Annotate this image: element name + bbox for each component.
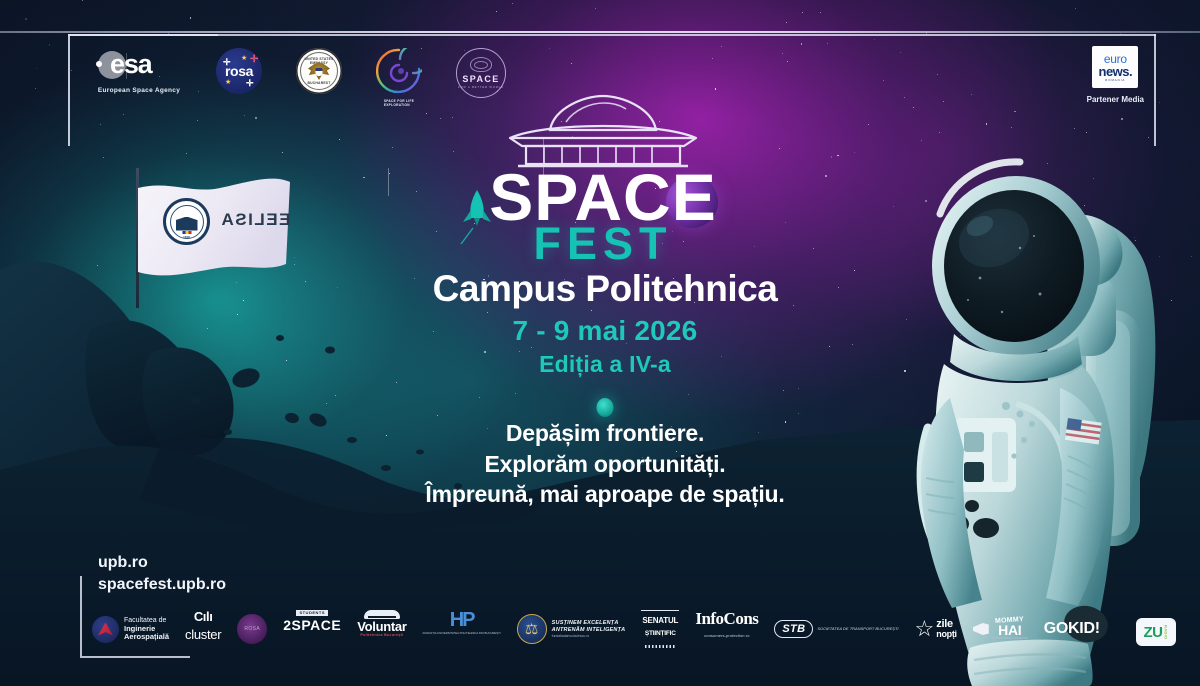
embassy-seal-icon: UNITED STATES EMBASSY BUCHAREST — [296, 48, 342, 94]
aerospace-faculty-icon — [92, 616, 119, 643]
page-title: Campus Politehnica — [390, 268, 820, 309]
sponsor-facultatea-inginerie-aerospatiala[interactable]: Facultatea de Inginerie Aerospațială — [92, 610, 169, 648]
megaphone-icon — [973, 623, 989, 635]
mommy-line2: HAI — [998, 624, 1021, 637]
sponsor-zu-radio[interactable]: ZU RADIO — [1136, 618, 1176, 646]
rosa-circle-label: ROSA — [244, 626, 260, 632]
infocons-line1: InfoCons — [695, 610, 758, 629]
voluntar-line1: Voluntar — [357, 620, 406, 633]
hp-line1: HP — [450, 610, 474, 630]
seal-text-bottom: BUCHAREST — [301, 81, 337, 85]
ufo-building-icon — [488, 92, 718, 170]
flag-cloth — [108, 168, 308, 308]
rosa-circle-icon: ROSA — [237, 614, 267, 644]
logo-word-space: SPACE — [489, 166, 717, 229]
us-embassy-seal[interactable]: UNITED STATES EMBASSY BUCHAREST — [296, 48, 342, 94]
url-main[interactable]: upb.ro — [98, 552, 226, 574]
senat-columns-icon — [645, 645, 675, 648]
esa-caption: European Space Agency — [98, 87, 180, 94]
mommy-line3: COMUNITATEA MAMELOR — [992, 638, 1028, 640]
euronews-line1: euro — [1104, 53, 1127, 65]
event-edition: Ediția a IV-a — [390, 351, 820, 378]
sponsor-gokid[interactable]: GOKID! — [1044, 610, 1100, 648]
sponsor-zile-si-nopti[interactable]: ☆ zile nopți — [915, 610, 957, 648]
esa-icon: esa — [96, 48, 182, 82]
sponsor-voluntar[interactable]: Voluntar Politehnica București — [357, 610, 406, 648]
star-icon: ☆ — [915, 618, 935, 640]
infocons-line2: consumers-protection.ro — [704, 634, 749, 638]
cili-line1: Cılı — [194, 610, 213, 623]
hp-line2: FUNDAȚIA UNIVERSITATEA POLITEHNICA DIN B… — [423, 632, 501, 636]
sponsor-infocons[interactable]: InfoCons consumers-protection.ro — [695, 610, 758, 648]
sponsor-cili-cluster[interactable]: Cılı cluster — [185, 610, 221, 648]
sponsor-rosa-circle[interactable]: ROSA — [237, 610, 267, 648]
tagline-line-1: Depășim frontiere. — [370, 418, 840, 449]
top-partner-logos: esa European Space Agency ★ ★ ✛ ✛ ✛ rosa… — [96, 48, 506, 108]
tagline-line-2: Explorăm oportunități. — [370, 449, 840, 480]
euronews-line2: news. — [1099, 65, 1133, 78]
spacefest-poster: esa European Space Agency ★ ★ ✛ ✛ ✛ rosa… — [0, 0, 1200, 686]
spiral-caption: SPACE FOR LIFE EXPLORATION — [384, 99, 414, 108]
url-event[interactable]: spacefest.upb.ro — [98, 574, 226, 596]
spacefest-wordmark: SPACE — [489, 166, 717, 229]
space-circle-word: SPACE — [462, 74, 499, 84]
senat-line2: ȘTIINȚIFIC — [645, 631, 676, 638]
zile-line2: nopți — [936, 630, 957, 639]
spiral-logo[interactable]: SPACE FOR LIFE EXPLORATION — [376, 48, 422, 108]
esa-logo[interactable]: esa European Space Agency — [96, 48, 182, 94]
website-urls: upb.ro spacefest.upb.ro — [98, 552, 226, 595]
zu-sub: RADIO — [1164, 625, 1169, 639]
voluntar-icon — [364, 610, 400, 619]
top-divider-line — [0, 31, 1200, 33]
fdv-line3: fundatiadanvoiculescu.ro — [552, 634, 626, 638]
rosa-icon: ★ ★ ✛ ✛ ✛ rosa — [216, 48, 262, 94]
cili-line2: cluster — [185, 628, 221, 641]
eelisa-flag: 1818 EELISA — [108, 168, 308, 308]
rocket-icon — [458, 188, 492, 246]
teal-orb-icon — [597, 398, 614, 417]
space-circle-sub: FOR A BETTER WORLD — [458, 85, 504, 89]
scales-icon: ⚖ — [517, 614, 547, 644]
tagline-line-3: Împreună, mai aproape de spațiu. — [370, 479, 840, 510]
zu-radio-icon: ZU RADIO — [1136, 618, 1176, 646]
rosa-logo[interactable]: ★ ★ ✛ ✛ ✛ rosa — [216, 48, 262, 99]
space-circle-icon: SPACE FOR A BETTER WORLD — [456, 48, 506, 98]
twospace-line2: 2SPACE — [283, 618, 341, 632]
sponsor-senatul-stiintific[interactable]: SENATUL ȘTIINȚIFIC — [641, 610, 679, 648]
event-details: Campus Politehnica 7 - 9 mai 2026 Ediția… — [390, 268, 820, 378]
event-dates: 7 - 9 mai 2026 — [390, 315, 820, 347]
fia-line3: Aerospațială — [124, 633, 169, 641]
sponsor-fundatia-hp[interactable]: HP FUNDAȚIA UNIVERSITATEA POLITEHNICA DI… — [423, 610, 501, 648]
fdv-line2: ANTRENĂM INTELIGENȚA — [552, 627, 626, 634]
stb-line1: STB — [774, 620, 813, 638]
sponsor-stb[interactable]: STB SOCIETATEA DE TRANSPORT BUCUREȘTI — [774, 610, 898, 648]
euronews-logo-icon: euro news. ROMANIA — [1092, 46, 1138, 88]
sponsor-mommy-hai[interactable]: MOMMY HAI COMUNITATEA MAMELOR — [973, 610, 1028, 648]
zu-main: ZU — [1144, 624, 1163, 641]
voluntar-line2: Politehnica București — [360, 634, 403, 638]
euronews-line3: ROMANIA — [1105, 79, 1125, 82]
twospace-line1: STUDENTS — [296, 610, 328, 616]
frame-top-line — [68, 34, 1156, 36]
event-tagline: Depășim frontiere. Explorăm oportunități… — [370, 418, 840, 510]
sponsor-logo-row: Facultatea de Inginerie Aerospațială Cıl… — [92, 608, 1100, 650]
upb-seal-year: 1818 — [183, 235, 190, 239]
upb-seal-icon: 1818 — [163, 198, 210, 245]
sponsor-2space[interactable]: STUDENTS 2SPACE — [283, 610, 341, 648]
fdv-line1: SUSȚINEM EXCELENȚA — [552, 620, 626, 627]
senat-line1: SENATUL — [642, 617, 678, 625]
rainbow-spiral-icon — [376, 48, 422, 94]
space-circle-logo[interactable]: SPACE FOR A BETTER WORLD — [456, 48, 506, 98]
esa-wordmark: esa — [110, 49, 151, 80]
astronaut-illustration — [910, 88, 1200, 686]
eelisa-label: EELISA — [220, 210, 290, 230]
spacefest-logo: SPACE FEST — [448, 92, 758, 266]
sponsor-fundatia-dan-voiculescu[interactable]: ⚖ SUSȚINEM EXCELENȚA ANTRENĂM INTELIGENȚ… — [517, 610, 626, 648]
stb-line2: SOCIETATEA DE TRANSPORT BUCUREȘTI — [817, 626, 898, 632]
